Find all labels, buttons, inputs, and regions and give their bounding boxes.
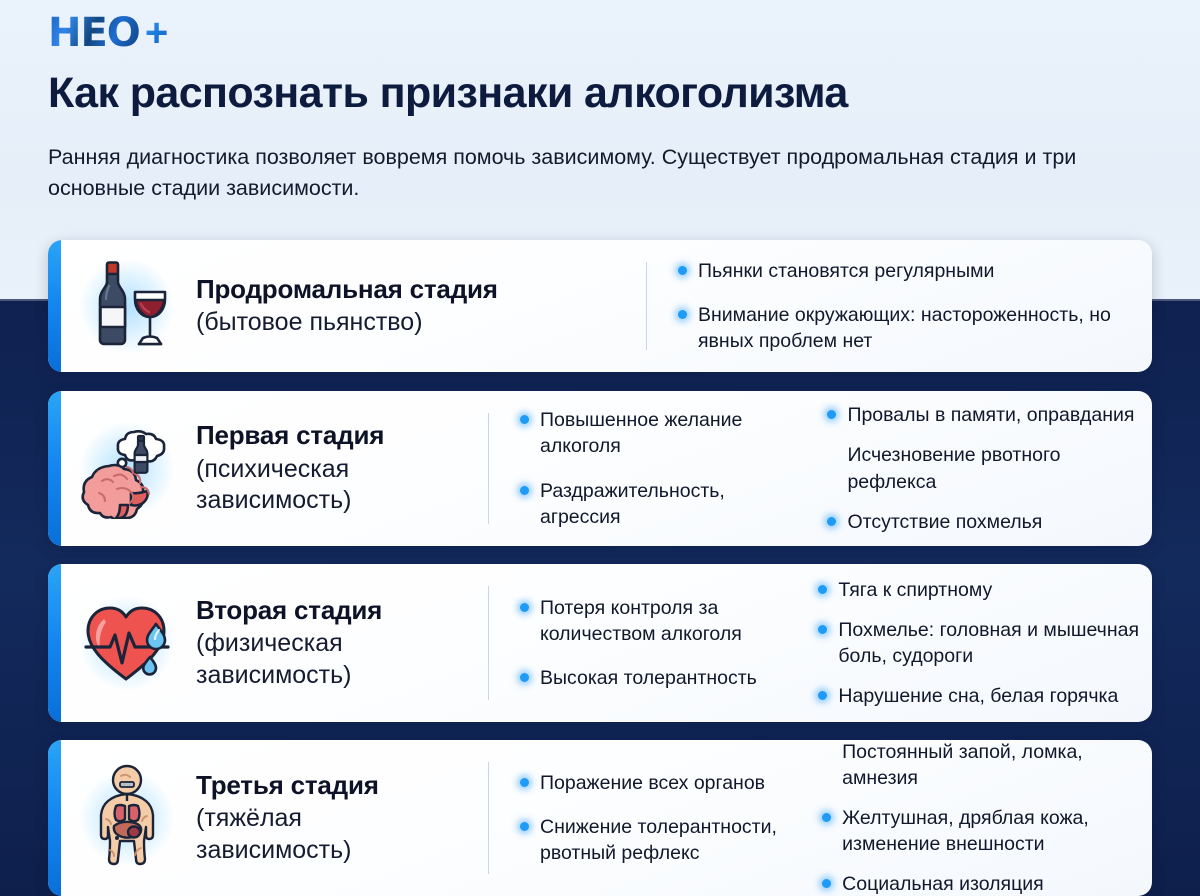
stage-label: Первая стадия (психическая зависимость): [196, 420, 411, 516]
stage-subtitle: (физическая зависимость): [196, 628, 411, 691]
wine-bottle-and-glass-icon: [74, 253, 180, 359]
list-item: Нарушение сна, белая горячка: [816, 683, 1142, 709]
list-item: Пьянки становятся регулярными: [676, 258, 1138, 284]
bullet-dot-icon: [827, 517, 836, 526]
list-item: Провалы в памяти, оправдания: [825, 402, 1142, 428]
stage-title: Продромальная стадия: [196, 274, 498, 305]
list-item: Исчезновение рвотного рефлекса: [825, 442, 1142, 494]
bullet-dot-icon: [520, 822, 529, 831]
list-item: Повышенное желание алкоголя: [518, 407, 807, 459]
card-divider: [488, 762, 489, 874]
page-title: Как распознать признаки алкоголизма: [48, 69, 1168, 117]
stage-title: Первая стадия: [196, 420, 411, 451]
card-accent-bar: [48, 391, 61, 546]
card-divider: [646, 262, 647, 350]
list-item-text: Внимание окружающих: настороженность, но…: [698, 304, 1111, 352]
bullet-dot-icon: [818, 625, 827, 634]
list-item: Высокая толерантность: [518, 665, 798, 691]
bullet-column: Тяга к спиртному Похмелье: головная и мы…: [816, 570, 1142, 717]
card-divider: [488, 413, 489, 524]
stage-subtitle: (тяжёлая зависимость): [196, 803, 411, 866]
bullet-dot-icon: [818, 585, 827, 594]
bullet-dot-icon: [520, 486, 529, 495]
list-item-text: Похмелье: головная и мышечная боль, судо…: [838, 619, 1139, 667]
bullet-column: Пьянки становятся регулярными Внимание о…: [676, 249, 1138, 363]
list-item-text: Раздражительность, агрессия: [540, 480, 725, 528]
bullet-column: Провалы в памяти, оправдания Исчезновени…: [825, 395, 1142, 542]
bullet-dot-icon: [678, 266, 687, 275]
stage-label: Третья стадия (тяжёлая зависимость): [196, 770, 411, 866]
stage-card-first: Первая стадия (психическая зависимость) …: [48, 391, 1152, 546]
list-item-text: Пьянки становятся регулярными: [698, 260, 994, 282]
card-left-section: Первая стадия (психическая зависимость): [48, 391, 411, 546]
card-columns: Пьянки становятся регулярными Внимание о…: [676, 240, 1138, 372]
bullet-dot-icon: [678, 310, 687, 319]
list-item: Потеря контроля за количеством алкоголя: [518, 595, 798, 647]
bullet-dot-icon: [520, 673, 529, 682]
list-item: Снижение толерантности, рвотный рефлекс: [518, 814, 808, 866]
card-columns: Поражение всех органов Снижение толерант…: [518, 740, 1142, 896]
list-item: Постоянный запой, ломка, амнезия: [820, 740, 1142, 791]
bullet-column: Постоянный запой, ломка, амнезия Желтушн…: [820, 740, 1142, 896]
list-item: Поражение всех органов: [518, 770, 808, 796]
stage-title: Вторая стадия: [196, 595, 411, 626]
stage-title: Третья стадия: [196, 770, 411, 801]
card-columns: Потеря контроля за количеством алкоголя …: [518, 564, 1142, 722]
bullet-dot-icon: [822, 879, 831, 888]
brand-logo-text: НЕО: [48, 13, 140, 53]
list-item-text: Потеря контроля за количеством алкоголя: [540, 597, 742, 645]
list-item: Похмелье: головная и мышечная боль, судо…: [816, 617, 1142, 669]
bullet-dot-icon: [520, 415, 529, 424]
card-divider: [488, 586, 489, 700]
bullet-dot-icon: [822, 813, 831, 822]
human-body-organs-icon: [74, 765, 180, 871]
card-columns: Повышенное желание алкоголя Раздражитель…: [518, 391, 1142, 546]
card-accent-bar: [48, 564, 61, 722]
list-item: Отсутствие похмелья: [825, 509, 1142, 535]
page-subtitle: Ранняя диагностика позволяет вовремя пом…: [48, 142, 1118, 203]
brand-logo: НЕО+: [48, 13, 167, 53]
stage-subtitle: (психическая зависимость): [196, 454, 411, 517]
stage-label: Вторая стадия (физическая зависимость): [196, 595, 411, 691]
stage-card-prodromal: Продромальная стадия (бытовое пьянство) …: [48, 240, 1152, 372]
brand-logo-plus-icon: +: [145, 13, 167, 53]
card-accent-bar: [48, 240, 61, 372]
bullet-dot-icon: [520, 603, 529, 612]
list-item-text: Отсутствие похмелья: [847, 511, 1042, 533]
list-item-text: Постоянный запой, ломка, амнезия: [842, 741, 1083, 789]
list-item: Желтушная, дряблая кожа, изменение внешн…: [820, 805, 1142, 857]
list-item-text: Тяга к спиртному: [838, 579, 992, 601]
list-item: Тяга к спиртному: [816, 577, 1142, 603]
bullet-column: Потеря контроля за количеством алкоголя …: [518, 586, 798, 700]
bullet-dot-icon: [827, 410, 836, 419]
list-item: Внимание окружающих: настороженность, но…: [676, 302, 1138, 354]
stage-subtitle: (бытовое пьянство): [196, 307, 498, 339]
bullet-column: Повышенное желание алкоголя Раздражитель…: [518, 398, 807, 539]
card-left-section: Вторая стадия (физическая зависимость): [48, 564, 411, 722]
list-item-text: Высокая толерантность: [540, 667, 757, 689]
list-item-text: Нарушение сна, белая горячка: [838, 685, 1118, 707]
bullet-column: Поражение всех органов Снижение толерант…: [518, 761, 808, 875]
list-item: Социальная изоляция: [820, 871, 1142, 896]
card-left-section: Третья стадия (тяжёлая зависимость): [48, 740, 411, 896]
card-left-section: Продромальная стадия (бытовое пьянство): [48, 240, 498, 372]
list-item-text: Желтушная, дряблая кожа, изменение внешн…: [842, 807, 1089, 855]
card-accent-bar: [48, 740, 61, 896]
list-item-text: Снижение толерантности, рвотный рефлекс: [540, 816, 777, 864]
heart-with-pulse-icon: [74, 590, 180, 696]
list-item-text: Повышенное желание алкоголя: [540, 409, 742, 457]
brain-with-thought-bubble-icon: [74, 416, 180, 522]
bullet-dot-icon: [520, 778, 529, 787]
list-item: Раздражительность, агрессия: [518, 478, 807, 530]
stage-card-second: Вторая стадия (физическая зависимость) П…: [48, 564, 1152, 722]
list-item-text: Поражение всех органов: [540, 772, 765, 794]
bullet-dot-icon: [818, 691, 827, 700]
stage-label: Продромальная стадия (бытовое пьянство): [196, 274, 498, 339]
list-item-text: Провалы в памяти, оправдания: [847, 404, 1134, 426]
list-item-text: Социальная изоляция: [842, 873, 1044, 895]
stage-card-third: Третья стадия (тяжёлая зависимость) Пора…: [48, 740, 1152, 896]
list-item-text: Исчезновение рвотного рефлекса: [847, 444, 1060, 492]
